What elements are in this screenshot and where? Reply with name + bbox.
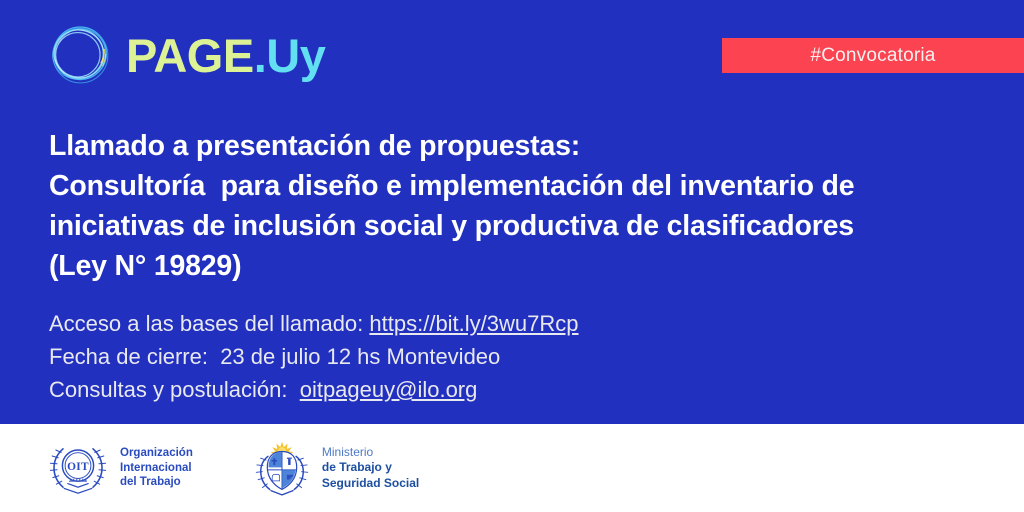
contact-label: Consultas y postulación: bbox=[49, 377, 300, 402]
header-bar: PAGE.Uy #Convocatoria bbox=[0, 0, 1024, 110]
contact-email-link[interactable]: oitpageuy@ilo.org bbox=[300, 377, 478, 402]
hashtag-badge-label: #Convocatoria bbox=[810, 45, 935, 67]
mtss-text-line-1: Ministerio bbox=[322, 445, 419, 460]
deadline-value: 23 de julio 12 hs Montevideo bbox=[220, 344, 500, 369]
uruguay-coat-of-arms-emblem-icon bbox=[251, 438, 313, 498]
mtss-text-line-2: de Trabajo y bbox=[322, 460, 419, 475]
headline-line-1: Llamado a presentación de propuestas: bbox=[49, 126, 989, 166]
ilo-logo-lockup: OIT bbox=[45, 439, 193, 497]
deadline-label: Fecha de cierre: bbox=[49, 344, 220, 369]
ilo-text-line-2: Internacional bbox=[120, 461, 193, 476]
wordmark-uy: Uy bbox=[266, 29, 325, 82]
svg-text:OIT: OIT bbox=[67, 461, 89, 473]
mtss-logo-text: Ministerio de Trabajo y Seguridad Social bbox=[322, 445, 419, 491]
brand-wordmark: PAGE.Uy bbox=[126, 32, 325, 79]
ilo-logo-text: Organización Internacional del Trabajo bbox=[120, 446, 193, 490]
ilo-oit-laurel-emblem-icon: OIT bbox=[45, 439, 111, 497]
headline-line-2: Consultoría para diseño e implementación… bbox=[49, 166, 989, 206]
details-block: Acceso a las bases del llamado: https://… bbox=[49, 307, 949, 406]
access-label: Acceso a las bases del llamado: bbox=[49, 311, 369, 336]
contact-line: Consultas y postulación: oitpageuy@ilo.o… bbox=[49, 373, 949, 406]
ilo-text-line-1: Organización bbox=[120, 446, 193, 461]
headline-line-4: (Ley N° 19829) bbox=[49, 246, 989, 286]
footer-bar: OIT bbox=[0, 424, 1024, 512]
headline-block: Llamado a presentación de propuestas: Co… bbox=[49, 126, 989, 286]
deadline-line: Fecha de cierre: 23 de julio 12 hs Monte… bbox=[49, 340, 949, 373]
headline-line-3: iniciativas de inclusión social y produc… bbox=[49, 206, 989, 246]
page-uy-circular-swirl-logo-icon bbox=[42, 17, 116, 91]
mtss-text-line-3: Seguridad Social bbox=[322, 476, 419, 491]
ilo-text-line-3: del Trabajo bbox=[120, 475, 193, 490]
bases-link[interactable]: https://bit.ly/3wu7Rcp bbox=[369, 311, 578, 336]
wordmark-dot: . bbox=[254, 29, 267, 82]
mtss-logo-lockup: Ministerio de Trabajo y Seguridad Social bbox=[251, 438, 419, 498]
access-line: Acceso a las bases del llamado: https://… bbox=[49, 307, 949, 340]
wordmark-page: PAGE bbox=[126, 29, 254, 82]
poster-canvas: PAGE.Uy #Convocatoria Llamado a presenta… bbox=[0, 0, 1024, 512]
brand-lockup: PAGE.Uy bbox=[42, 17, 325, 91]
hashtag-badge: #Convocatoria bbox=[722, 38, 1024, 73]
